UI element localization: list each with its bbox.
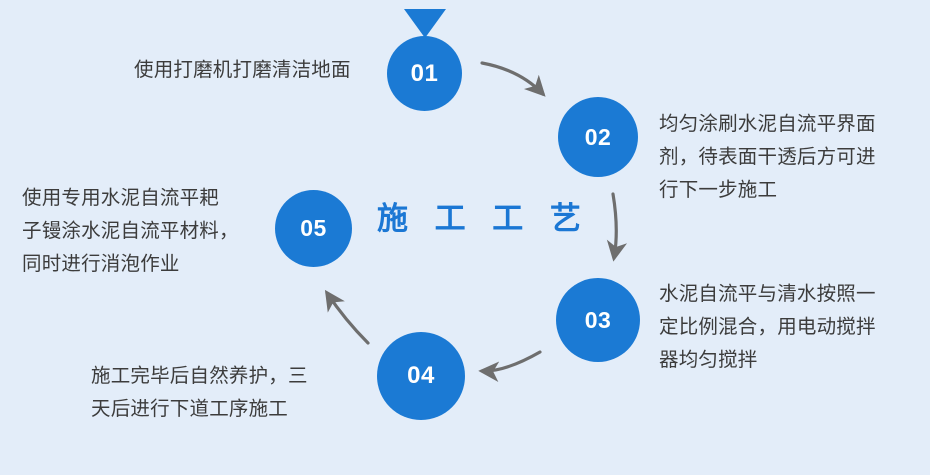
step-node-05[interactable]: 05	[275, 190, 352, 267]
step-node-04[interactable]: 04	[377, 332, 465, 420]
step-number-02: 02	[585, 126, 612, 149]
diagram-title: 施 工 工 艺	[377, 203, 590, 234]
step-caption-03: 水泥自流平与清水按照一 定比例混合，用电动搅拌 器均匀搅拌	[659, 278, 914, 377]
arrow-02-to-03	[613, 194, 616, 258]
step-caption-01: 使用打磨机打磨清洁地面	[134, 54, 379, 87]
arrow-03-to-04	[482, 352, 540, 371]
step-caption-04: 施工完毕后自然养护，三 天后进行下道工序施工	[91, 360, 353, 426]
step-node-02[interactable]: 02	[558, 97, 638, 177]
arrow-04-to-05	[327, 293, 368, 343]
arrow-01-to-02	[482, 63, 543, 94]
process-cycle-diagram: 01 02 03 04 05 使用打磨机打磨清洁地面 均匀涂刷水泥自流平界面 剂…	[0, 0, 930, 475]
step-number-04: 04	[407, 364, 435, 388]
step-caption-02: 均匀涂刷水泥自流平界面 剂，待表面干透后方可进 行下一步施工	[659, 108, 914, 207]
step-caption-05: 使用专用水泥自流平耙 子镘涂水泥自流平材料， 同时进行消泡作业	[22, 182, 272, 281]
step-node-01[interactable]: 01	[387, 36, 462, 111]
step-number-05: 05	[300, 217, 327, 240]
step-node-03[interactable]: 03	[556, 278, 640, 362]
step-number-01: 01	[411, 62, 439, 86]
step-number-03: 03	[585, 309, 612, 332]
triangle-down-marker	[404, 9, 446, 38]
